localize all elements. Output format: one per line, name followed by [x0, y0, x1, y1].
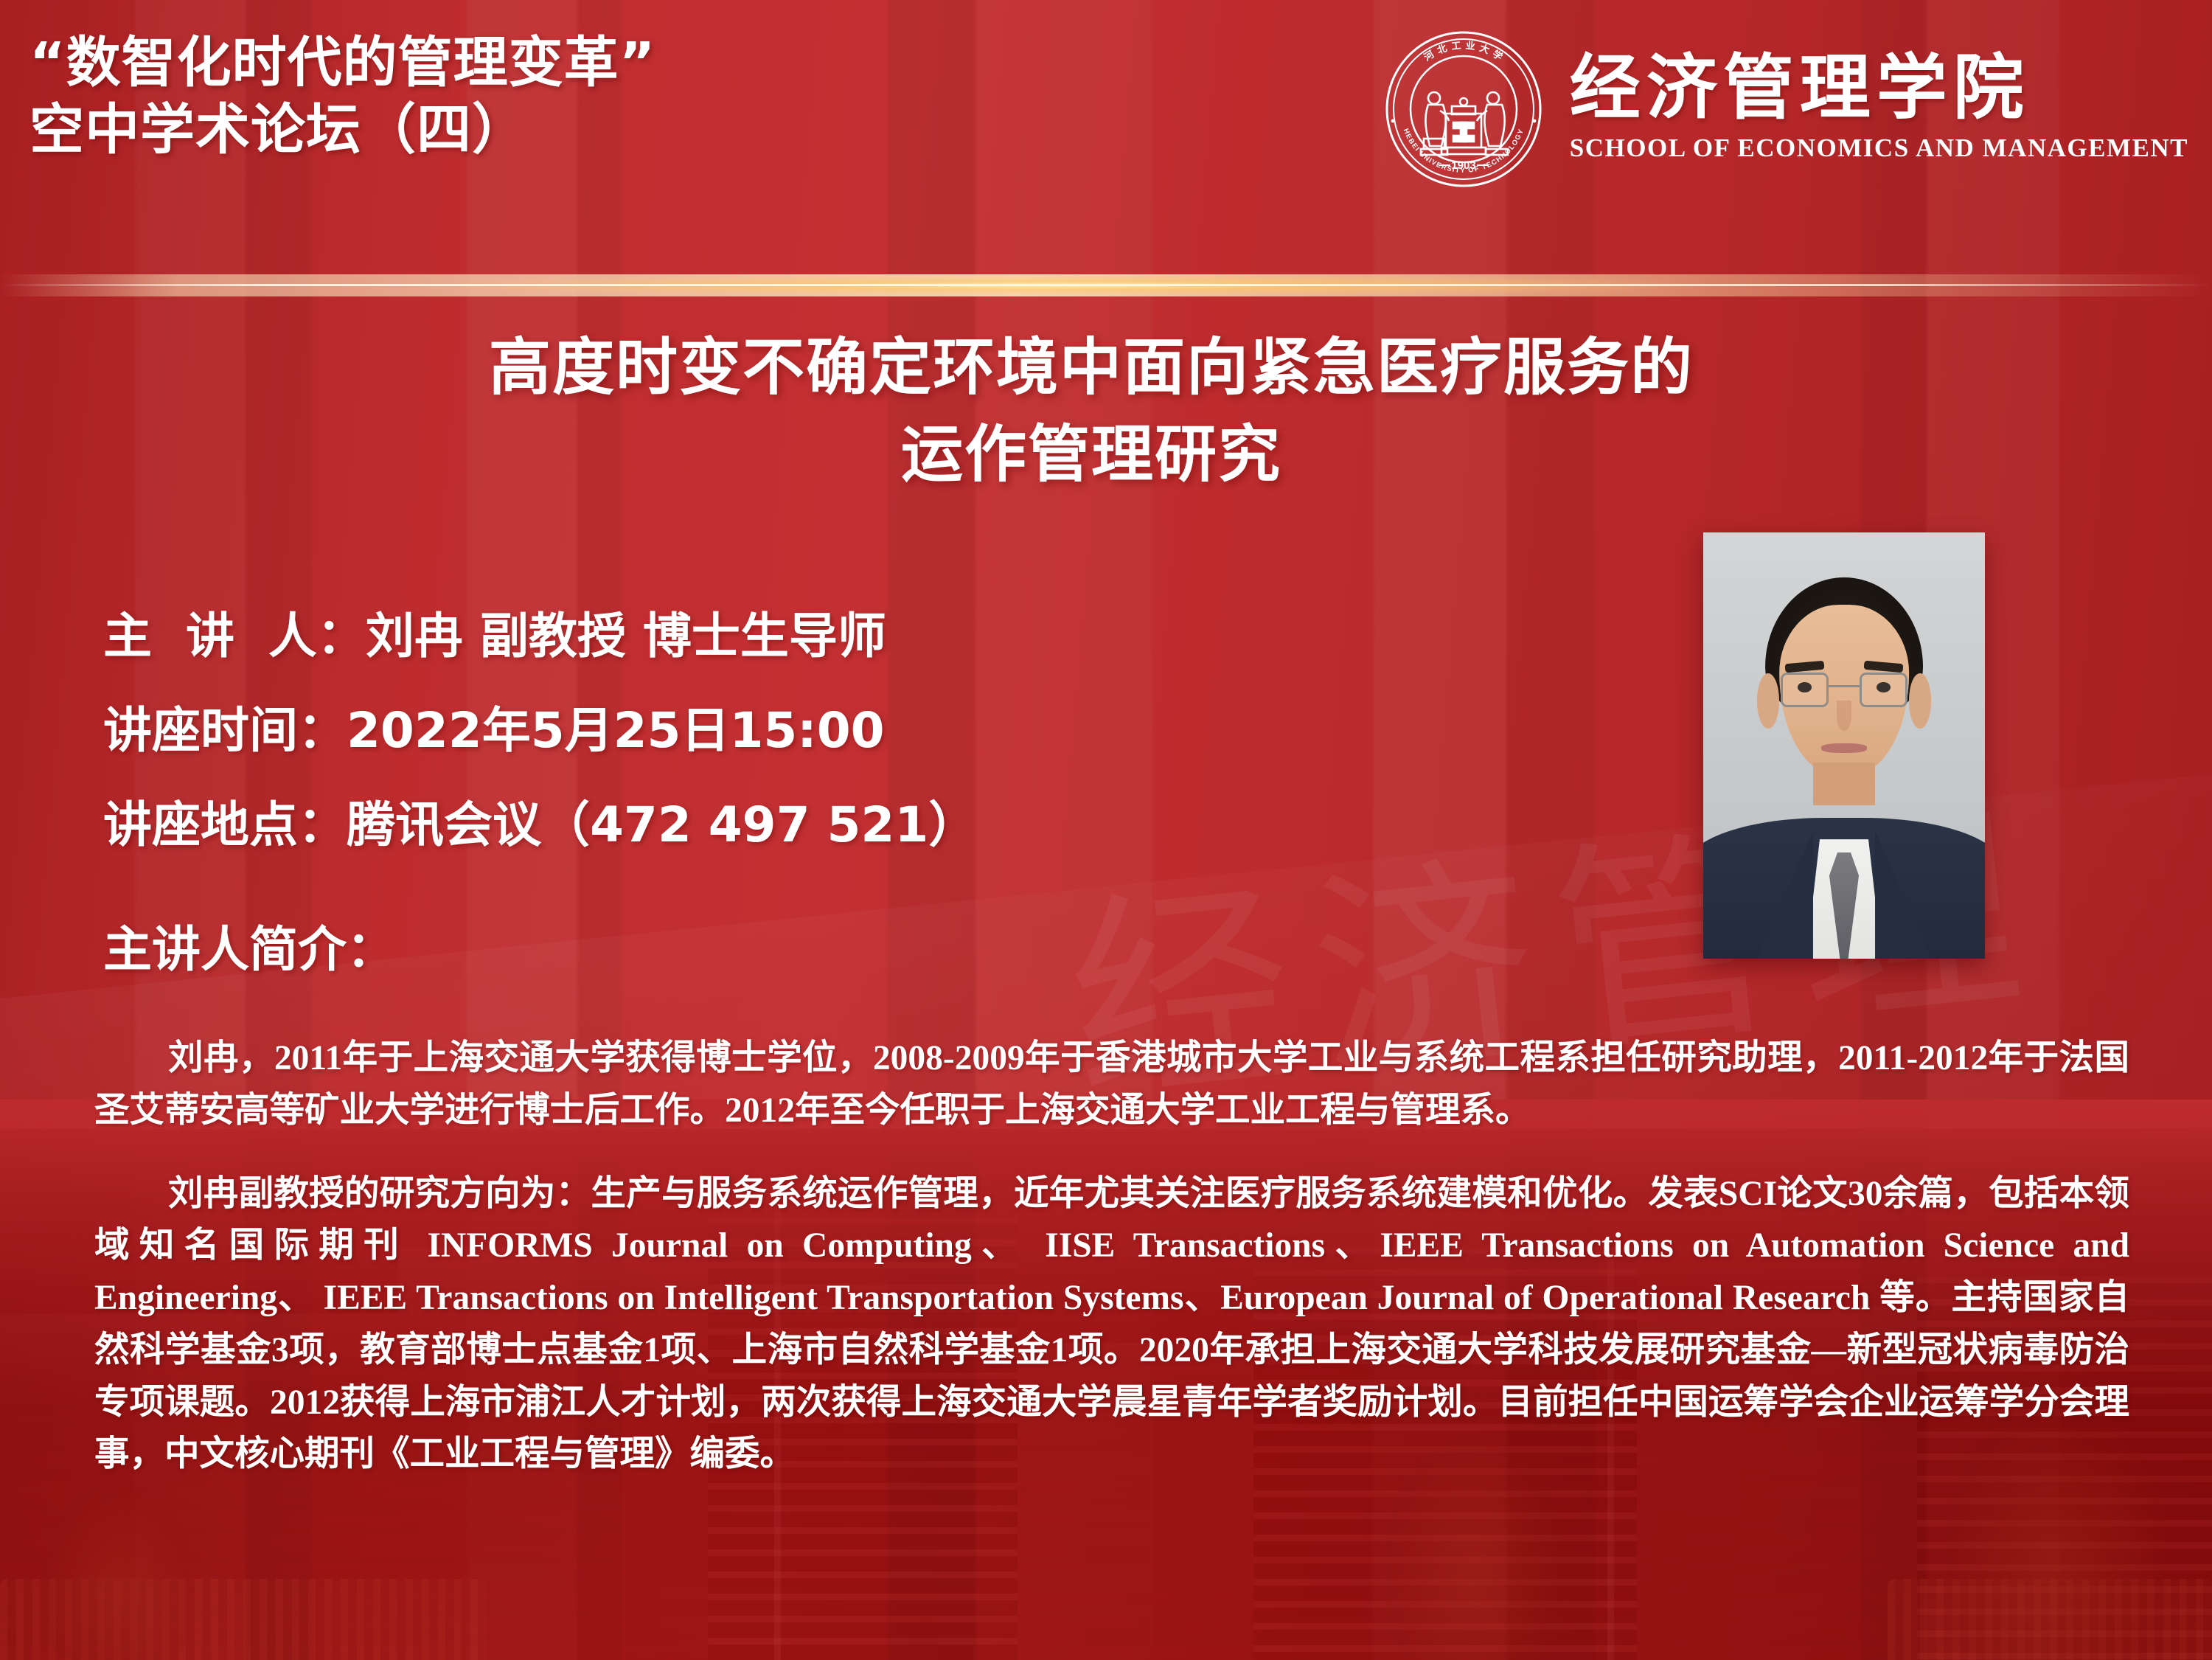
portrait-mouth [1821, 743, 1866, 753]
svg-text:1903: 1903 [1451, 159, 1475, 172]
bio-paragraph-1: 刘冉，2011年于上海交通大学获得博士学位，2008-2009年于香港城市大学工… [94, 1032, 2129, 1137]
poster-header: “数智化时代的管理变革” 空中学术论坛（四） [0, 0, 2212, 257]
portrait-image [1703, 532, 1985, 959]
lecture-info: 主 讲 人： 刘冉 副教授 博士生导师 讲座时间： 2022年5月25日15:0… [103, 612, 1615, 895]
university-emblem-icon: 河 北 工 业 大 学 HEBEI UNIVERSITY OF TECHNOLO… [1382, 28, 1545, 190]
time-label: 讲座时间： [103, 706, 347, 755]
school-name-block: 经济管理学院 SCHOOL OF ECONOMICS AND MANAGEMEN… [1570, 51, 2188, 167]
portrait-neck [1813, 763, 1875, 805]
location-label: 讲座地点： [103, 801, 347, 850]
seminar-poster: 经济管理 “数智化时代的管理变革” 空中学术论坛（四） [0, 0, 2212, 1660]
portrait-glasses-right [1860, 673, 1907, 707]
bio-paragraph-2: 刘冉副教授的研究方向为：生产与服务系统运作管理，近年尤其关注医疗服务系统建模和优… [94, 1168, 2129, 1482]
info-row-location: 讲座地点： 腾讯会议（472 497 521） [103, 801, 1615, 850]
location-value: 腾讯会议（472 497 521） [347, 801, 977, 850]
portrait-glasses-left [1781, 673, 1829, 707]
bio-heading: 主讲人简介： [103, 925, 395, 974]
portrait-ear-left [1757, 673, 1780, 729]
time-value: 2022年5月25日15:00 [347, 706, 885, 755]
svg-text:河 北 工 业 大 学: 河 北 工 业 大 学 [1422, 40, 1505, 63]
speaker-label: 主 讲 人： [103, 612, 366, 661]
school-name-en: SCHOOL OF ECONOMICS AND MANAGEMENT [1570, 134, 2188, 163]
info-row-time: 讲座时间： 2022年5月25日15:00 [103, 706, 1615, 755]
portrait-nose [1837, 701, 1851, 730]
forum-title: “数智化时代的管理变革” 空中学术论坛（四） [29, 29, 655, 164]
info-row-speaker: 主 讲 人： 刘冉 副教授 博士生导师 [103, 612, 1615, 661]
speaker-portrait [1703, 532, 1985, 959]
portrait-ear-right [1909, 673, 1932, 729]
school-brand: 河 北 工 业 大 学 HEBEI UNIVERSITY OF TECHNOLO… [1382, 28, 2188, 190]
speaker-biography: 刘冉，2011年于上海交通大学获得博士学位，2008-2009年于香港城市大学工… [94, 1032, 2129, 1481]
school-name-cn: 经济管理学院 [1570, 51, 2030, 125]
portrait-glasses-bridge [1829, 685, 1860, 687]
speaker-value: 刘冉 副教授 博士生导师 [366, 612, 886, 661]
lecture-title: 高度时变不确定环境中面向紧急医疗服务的 运作管理研究 [155, 324, 2028, 498]
gold-divider [0, 274, 2212, 296]
